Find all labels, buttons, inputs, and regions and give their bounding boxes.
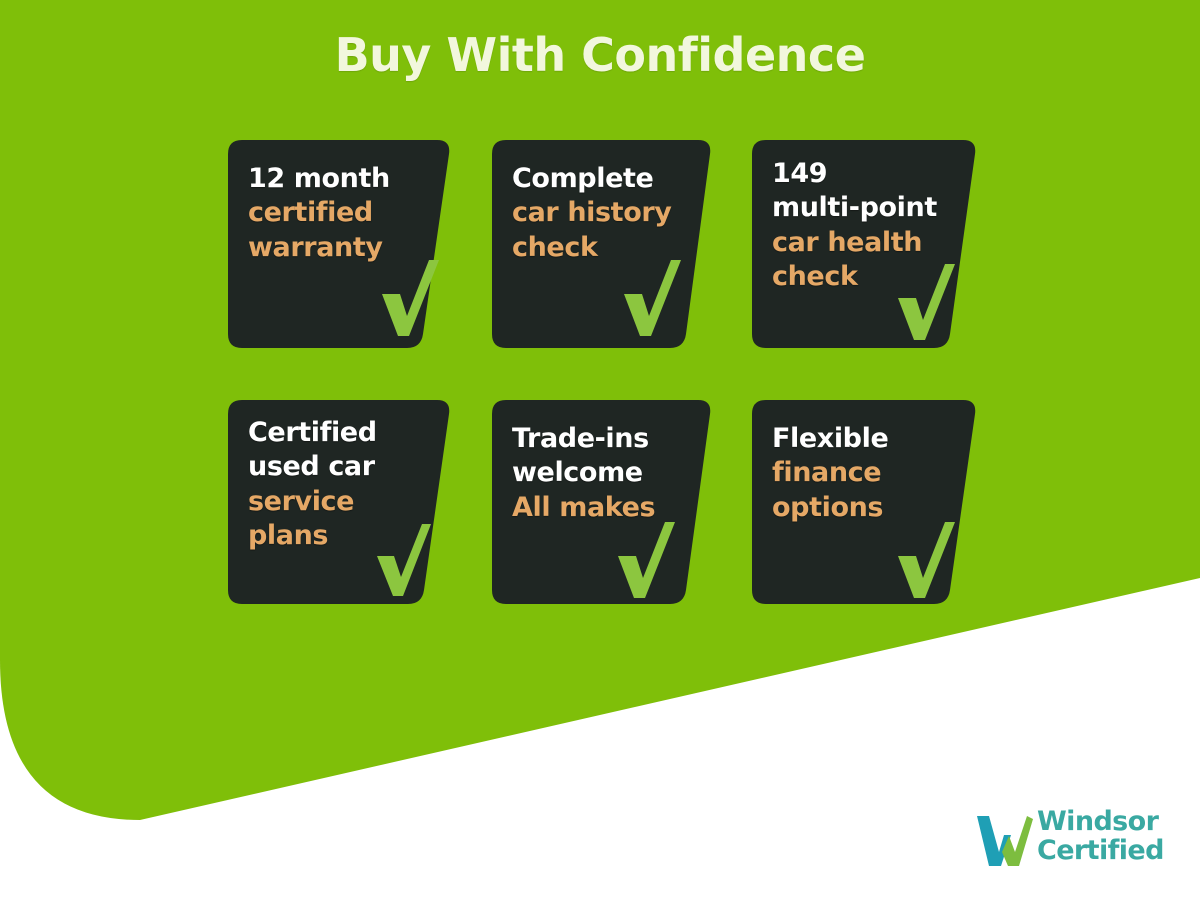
windsor-w-logo-icon [975, 814, 1033, 868]
card-line: finance [772, 456, 888, 490]
card-line: multi-point [772, 191, 937, 225]
card-line: options [772, 491, 888, 525]
feature-card[interactable]: Certified used car service plans [228, 400, 454, 604]
card-text: Trade-ins welcome All makes [492, 400, 669, 525]
check-icon [892, 264, 958, 340]
card-text: Flexible finance options [752, 400, 902, 525]
check-icon [618, 260, 684, 336]
card-line: plans [248, 519, 377, 553]
feature-card[interactable]: Complete car history check [492, 140, 714, 348]
brand-logo[interactable]: Windsor Certified [975, 808, 1175, 876]
card-line: warranty [248, 231, 390, 265]
feature-card[interactable]: Trade-ins welcome All makes [492, 400, 714, 604]
card-line: All makes [512, 491, 655, 525]
card-line: 149 [772, 157, 937, 191]
card-line: Trade-ins [512, 422, 655, 456]
card-line: car health [772, 226, 937, 260]
brand-name-line-2: Certified [1037, 837, 1164, 866]
feature-card-grid: 12 month certified warranty Complete car… [0, 0, 1200, 900]
card-line: welcome [512, 456, 655, 490]
card-line: car history [512, 196, 671, 230]
check-icon [376, 260, 442, 336]
poster-canvas: Buy With Confidence 12 month certified w… [0, 0, 1200, 900]
card-text: 12 month certified warranty [228, 140, 404, 265]
card-line: Certified [248, 416, 377, 450]
feature-card[interactable]: 149 multi-point car health check [752, 140, 978, 348]
card-line: 12 month [248, 162, 390, 196]
card-line: Complete [512, 162, 671, 196]
card-line: certified [248, 196, 390, 230]
brand-name: Windsor Certified [1037, 808, 1164, 865]
check-icon [612, 522, 678, 598]
card-line: used car [248, 450, 377, 484]
card-line: service [248, 485, 377, 519]
brand-name-line-1: Windsor [1037, 808, 1164, 837]
check-icon [372, 524, 434, 596]
check-icon [892, 522, 958, 598]
feature-card[interactable]: 12 month certified warranty [228, 140, 454, 348]
card-line: Flexible [772, 422, 888, 456]
feature-card[interactable]: Flexible finance options [752, 400, 978, 604]
card-text: Certified used car service plans [228, 400, 391, 553]
card-text: Complete car history check [492, 140, 685, 265]
